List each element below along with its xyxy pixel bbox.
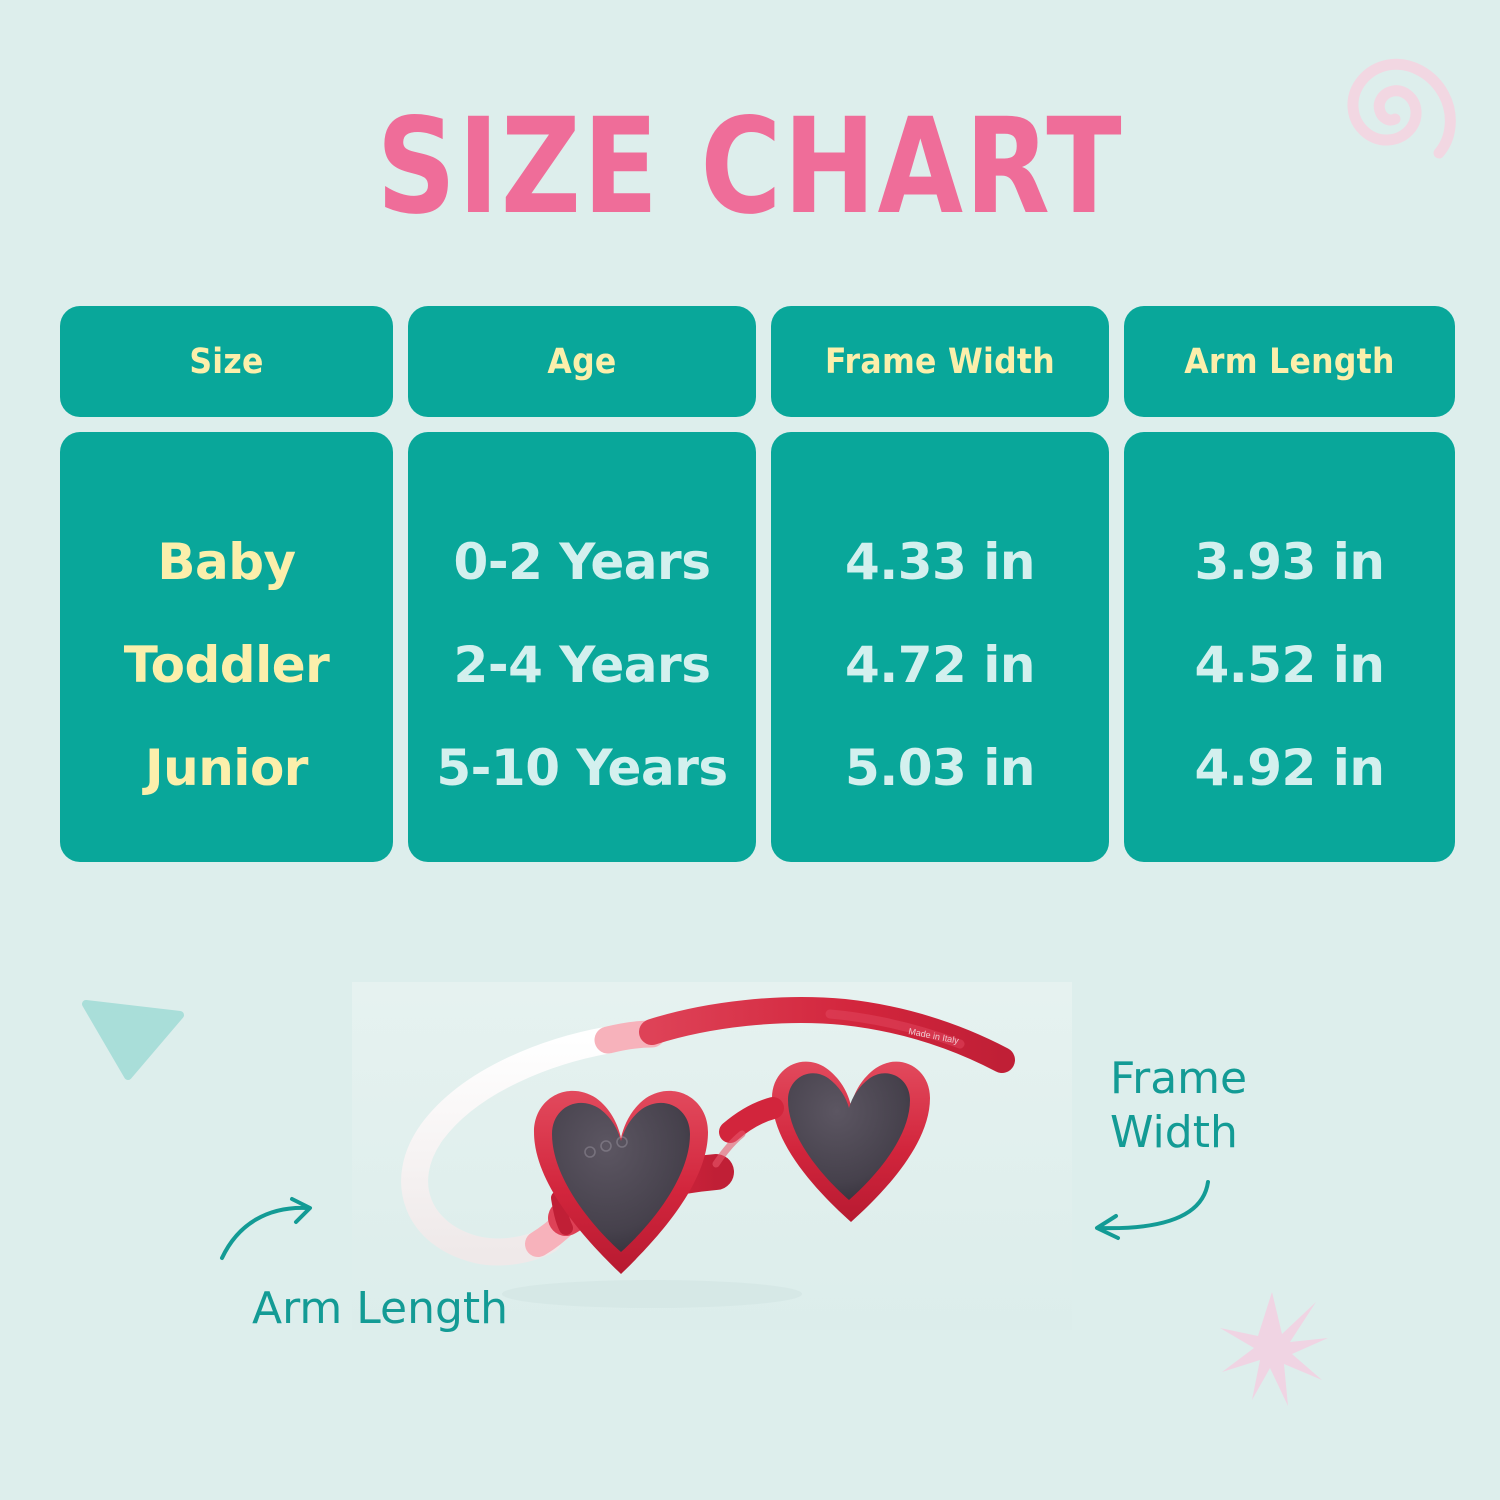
frame-width-arrow-icon <box>1080 1176 1220 1251</box>
arm-length-arrow-icon <box>216 1196 336 1271</box>
cell-frame-width-junior: 5.03 in <box>845 716 1035 819</box>
table-header-frame-width: Frame Width <box>771 306 1109 417</box>
table-body-row: Baby Toddler Junior 0-2 Years 2-4 Years … <box>60 432 1440 862</box>
table-column-size: Baby Toddler Junior <box>60 432 393 862</box>
size-chart-table: Size Age Frame Width Arm Length Baby Tod… <box>60 306 1440 862</box>
cell-frame-width-baby: 4.33 in <box>845 510 1035 613</box>
callout-arm-length: Arm Length <box>252 1282 508 1336</box>
cell-age-junior: 5-10 Years <box>436 716 727 819</box>
cell-age-baby: 0-2 Years <box>454 510 711 613</box>
cell-size-junior: Junior <box>145 716 308 819</box>
page-title: SIZE CHART <box>53 92 1448 242</box>
sparkle-icon <box>1212 1288 1332 1413</box>
cell-arm-length-baby: 3.93 in <box>1194 510 1384 613</box>
table-header-arm-length: Arm Length <box>1124 306 1455 417</box>
callout-frame-width-line2: Width <box>1110 1106 1247 1160</box>
spiral-icon <box>1336 52 1456 172</box>
cell-arm-length-toddler: 4.52 in <box>1194 613 1384 716</box>
triangle-icon <box>80 988 190 1088</box>
table-header-size: Size <box>60 306 393 417</box>
cell-frame-width-toddler: 4.72 in <box>845 613 1035 716</box>
callout-frame-width: Frame Width <box>1110 1052 1247 1160</box>
table-column-frame-width: 4.33 in 4.72 in 5.03 in <box>771 432 1109 862</box>
table-header-row: Size Age Frame Width Arm Length <box>60 306 1440 417</box>
cell-age-toddler: 2-4 Years <box>454 613 711 716</box>
cell-size-baby: Baby <box>157 510 295 613</box>
table-header-age: Age <box>408 306 756 417</box>
product-photo-sunglasses: Made in Italy ro·sham·bo <box>352 982 1072 1330</box>
cell-arm-length-junior: 4.92 in <box>1194 716 1384 819</box>
cell-size-toddler: Toddler <box>124 613 330 716</box>
table-column-arm-length: 3.93 in 4.52 in 4.92 in <box>1124 432 1455 862</box>
callout-frame-width-line1: Frame <box>1110 1052 1247 1106</box>
table-column-age: 0-2 Years 2-4 Years 5-10 Years <box>408 432 756 862</box>
